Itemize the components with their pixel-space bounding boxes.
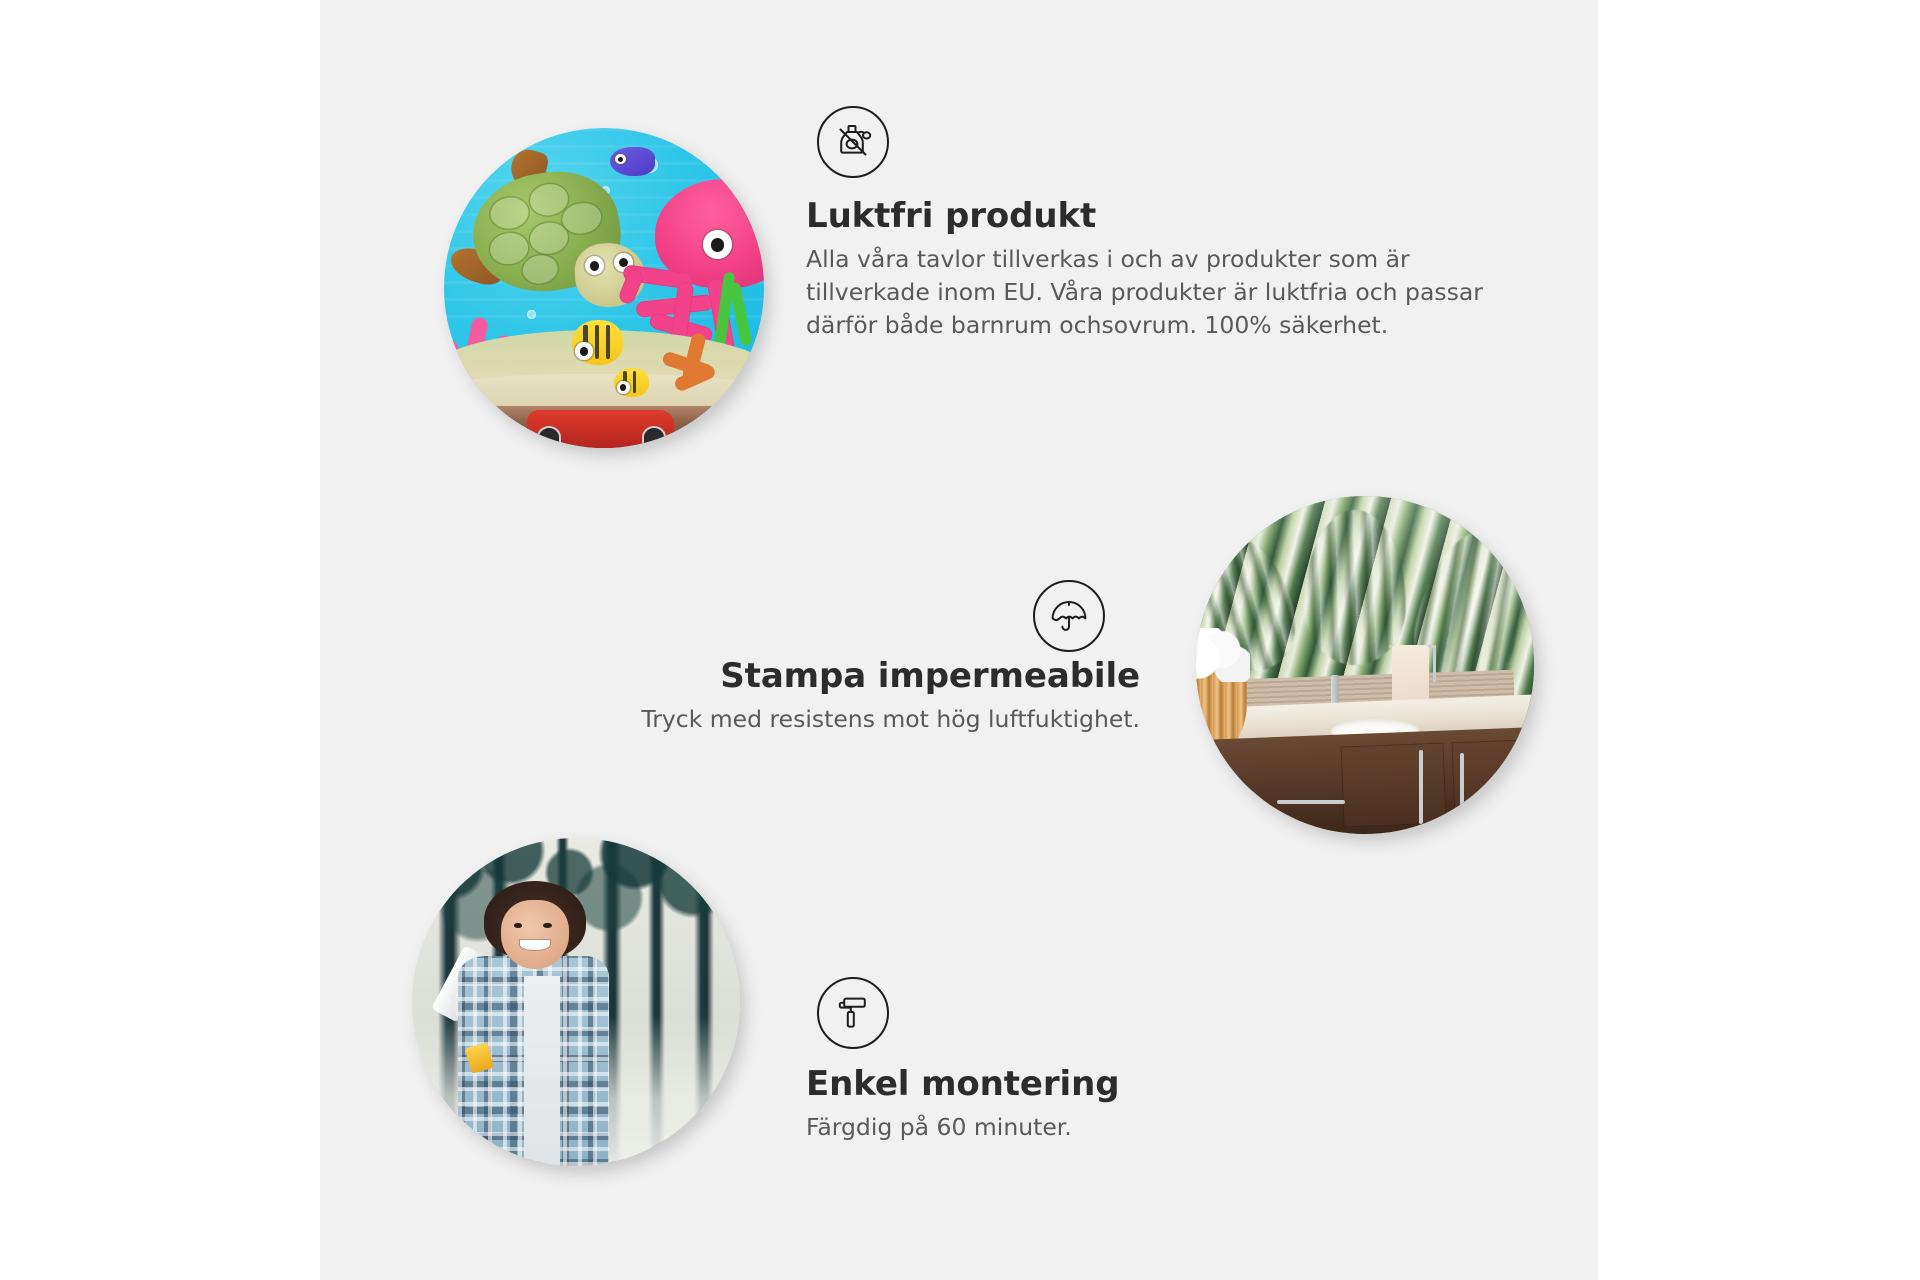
feature-infographic-canvas: Luktfri produkt Alla våra tavlor tillver… bbox=[0, 0, 1920, 1280]
cabinet-handle bbox=[1419, 750, 1423, 824]
feature-description: Färgdig på 60 minuter. bbox=[806, 1111, 1466, 1144]
fish-stripe bbox=[606, 325, 611, 359]
feature-description: Tryck med resistens mot hög luftfuktighe… bbox=[520, 703, 1140, 736]
turtle-eye-left bbox=[585, 256, 604, 275]
yellow-fish-small-eye bbox=[617, 381, 630, 394]
white-flowers bbox=[1196, 628, 1250, 682]
feature-description: Alla våra tavlor tillverkas i och av pro… bbox=[806, 243, 1518, 342]
octopus-eye bbox=[703, 230, 732, 259]
woman-eye-right bbox=[543, 923, 552, 928]
feature-title: Luktfri produkt bbox=[806, 196, 1518, 236]
wooden-vanity-cabinet bbox=[1196, 725, 1534, 834]
shell-scale bbox=[487, 231, 530, 267]
vanity-door bbox=[1452, 738, 1534, 823]
shell-scale bbox=[488, 195, 531, 231]
fish-stripe bbox=[633, 371, 636, 393]
inner-shirt bbox=[524, 976, 560, 1166]
bathroom-green-leaf-wallpaper-thumbnail bbox=[1196, 496, 1534, 834]
bubble-icon bbox=[527, 310, 535, 318]
drawer-handle bbox=[1277, 800, 1345, 804]
fish-stripe bbox=[595, 325, 600, 359]
feature-text-waterproof-print: Stampa impermeabile Tryck med resistens … bbox=[520, 656, 1140, 736]
woman-with-paint-roller-forest-thumbnail bbox=[412, 838, 740, 1166]
car-wheel-right bbox=[642, 426, 666, 448]
feature-text-odour-free: Luktfri produkt Alla våra tavlor tillver… bbox=[806, 196, 1518, 342]
bathroom-scene-artwork bbox=[1196, 496, 1534, 834]
no-odour-perfume-bottle-icon bbox=[817, 106, 889, 178]
forest-scene-artwork bbox=[412, 838, 740, 1166]
car-wheel-left bbox=[537, 426, 561, 448]
woman-face bbox=[501, 900, 570, 969]
cabinet-handle bbox=[1460, 753, 1464, 821]
underwater-kids-mural-thumbnail bbox=[444, 128, 764, 448]
shell-scale bbox=[521, 252, 560, 286]
feature-title: Stampa impermeabile bbox=[520, 656, 1140, 696]
umbrella-icon bbox=[1033, 580, 1105, 652]
feature-text-easy-assembly: Enkel montering Färgdig på 60 minuter. bbox=[806, 1064, 1466, 1144]
towel-bar-post bbox=[1433, 645, 1436, 682]
paint-roller-icon bbox=[817, 977, 889, 1049]
vanity-door bbox=[1341, 742, 1448, 827]
yellow-fish-eye bbox=[575, 342, 593, 360]
feature-title: Enkel montering bbox=[806, 1064, 1466, 1104]
underwater-scene-artwork bbox=[444, 128, 764, 448]
